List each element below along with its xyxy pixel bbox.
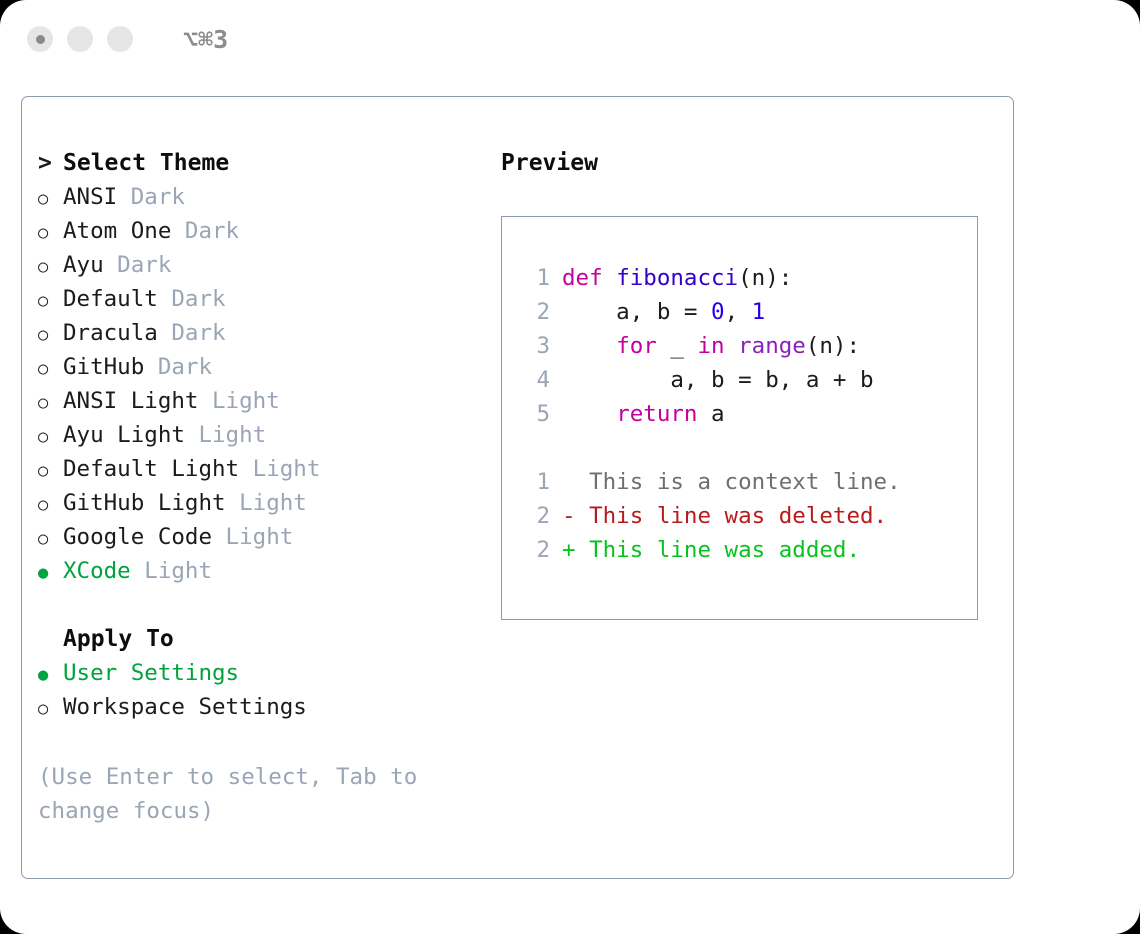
theme-variant-badge: Dark: [144, 354, 212, 380]
theme-option-label: ANSI Light: [63, 388, 198, 414]
theme-option-label: GitHub: [63, 354, 144, 380]
preview-title: Preview: [501, 146, 991, 180]
code-token: (n):: [738, 265, 792, 291]
traffic-light-1-button[interactable]: [27, 26, 53, 52]
theme-picker-header: Select Theme: [38, 146, 468, 180]
theme-option-ansi-light[interactable]: ANSI Light Light: [38, 384, 468, 418]
theme-picker-header-label: Select Theme: [63, 150, 229, 176]
radio-unselected-icon: [38, 214, 63, 250]
theme-picker: Select Theme ANSI DarkAtom One DarkAyu D…: [38, 146, 468, 724]
code-token: (n):: [806, 333, 860, 359]
dialog-panel: Select Theme ANSI DarkAtom One DarkAyu D…: [21, 96, 1014, 879]
theme-option-label: Ayu: [63, 252, 104, 278]
theme-option-xcode[interactable]: XCode Light: [38, 554, 468, 588]
radio-unselected-icon: [38, 690, 63, 726]
radio-selected-icon: [38, 656, 63, 692]
radio-unselected-icon: [38, 350, 63, 386]
traffic-light-active-dot: [36, 35, 45, 44]
code-token: a, b =: [562, 299, 711, 325]
line-number: 3: [524, 329, 550, 363]
apply-to-header: Apply To: [38, 622, 468, 656]
theme-option-label: ANSI: [63, 184, 117, 210]
title-bar: ⌥⌘3: [0, 0, 1140, 78]
theme-variant-badge: Dark: [158, 286, 226, 312]
line-number: 5: [524, 397, 550, 431]
code-token: ,: [725, 299, 752, 325]
line-number: 1: [524, 261, 550, 295]
theme-option-label: Dracula: [63, 320, 158, 346]
line-number: 2: [524, 533, 550, 567]
caret-icon: [38, 146, 63, 180]
apply-to-option-list: User SettingsWorkspace Settings: [38, 656, 468, 724]
theme-option-ansi[interactable]: ANSI Dark: [38, 180, 468, 214]
diff-line-text: This is a context line.: [562, 469, 901, 495]
app-window: ⌥⌘3 Select Theme ANSI DarkAtom One DarkA…: [0, 0, 1140, 934]
theme-variant-badge: Light: [185, 422, 266, 448]
theme-option-google-code[interactable]: Google Code Light: [38, 520, 468, 554]
line-number: 4: [524, 363, 550, 397]
radio-unselected-icon: [38, 282, 63, 318]
code-token: 1: [752, 299, 766, 325]
code-token: 0: [711, 299, 725, 325]
theme-option-atom-one[interactable]: Atom One Dark: [38, 214, 468, 248]
theme-option-ayu[interactable]: Ayu Dark: [38, 248, 468, 282]
keyboard-shortcut-label: ⌥⌘3: [183, 27, 228, 52]
radio-unselected-icon: [38, 520, 63, 556]
code-token: a, b = b, a + b: [562, 367, 874, 393]
theme-variant-badge: Light: [198, 388, 279, 414]
apply-to-option-label: Workspace Settings: [63, 694, 307, 720]
code-diff-spacer: [502, 431, 977, 465]
theme-variant-badge: Light: [226, 490, 307, 516]
diff-sample: 1 This is a context line.2- This line wa…: [502, 465, 977, 567]
code-token: [725, 333, 739, 359]
radio-unselected-icon: [38, 486, 63, 522]
apply-to-header-label: Apply To: [63, 626, 174, 652]
preview-pane: Preview 1def fibonacci(n):2 a, b = 0, 13…: [501, 146, 991, 620]
diff-line-text: + This line was added.: [562, 537, 860, 563]
theme-variant-badge: Light: [131, 558, 212, 584]
theme-variant-badge: Dark: [158, 320, 226, 346]
theme-variant-badge: Dark: [171, 218, 239, 244]
diff-line: 2+ This line was added.: [502, 533, 977, 567]
theme-option-label: Google Code: [63, 524, 212, 550]
code-line: 5 return a: [502, 397, 977, 431]
radio-selected-icon: [38, 554, 63, 590]
theme-option-dracula[interactable]: Dracula Dark: [38, 316, 468, 350]
theme-variant-badge: Dark: [104, 252, 172, 278]
theme-option-label: Default: [63, 286, 158, 312]
keyboard-hint: (Use Enter to select, Tab to change focu…: [38, 760, 458, 828]
diff-line-text: - This line was deleted.: [562, 503, 887, 529]
theme-option-default-light[interactable]: Default Light Light: [38, 452, 468, 486]
theme-option-ayu-light[interactable]: Ayu Light Light: [38, 418, 468, 452]
theme-option-github-light[interactable]: GitHub Light Light: [38, 486, 468, 520]
theme-option-label: Ayu Light: [63, 422, 185, 448]
line-number: 2: [524, 499, 550, 533]
theme-variant-badge: Dark: [117, 184, 185, 210]
traffic-light-2-button[interactable]: [67, 26, 93, 52]
radio-unselected-icon: [38, 452, 63, 488]
diff-line: 1 This is a context line.: [502, 465, 977, 499]
theme-option-label: XCode: [63, 558, 131, 584]
code-line: 1def fibonacci(n):: [502, 261, 977, 295]
theme-option-list: ANSI DarkAtom One DarkAyu DarkDefault Da…: [38, 180, 468, 588]
code-token: [562, 401, 616, 427]
line-number: 2: [524, 295, 550, 329]
theme-option-github[interactable]: GitHub Dark: [38, 350, 468, 384]
preview-box: 1def fibonacci(n):2 a, b = 0, 13 for _ i…: [501, 216, 978, 620]
code-token: for: [616, 333, 657, 359]
code-line: 4 a, b = b, a + b: [502, 363, 977, 397]
theme-option-label: Atom One: [63, 218, 171, 244]
code-token: _: [657, 333, 698, 359]
radio-unselected-icon: [38, 248, 63, 284]
theme-option-label: GitHub Light: [63, 490, 226, 516]
code-token: a: [697, 401, 724, 427]
code-line: 3 for _ in range(n):: [502, 329, 977, 363]
theme-option-default[interactable]: Default Dark: [38, 282, 468, 316]
radio-unselected-icon: [38, 316, 63, 352]
theme-variant-badge: Light: [212, 524, 293, 550]
traffic-light-3-button[interactable]: [107, 26, 133, 52]
code-token: def: [562, 265, 616, 291]
apply-to-option-label: User Settings: [63, 660, 239, 686]
radio-unselected-icon: [38, 384, 63, 420]
section-spacer: [38, 588, 468, 622]
apply-to-option-workspace-settings[interactable]: Workspace Settings: [38, 690, 468, 724]
code-token: fibonacci: [616, 265, 738, 291]
apply-to-option-user-settings[interactable]: User Settings: [38, 656, 468, 690]
diff-line: 2- This line was deleted.: [502, 499, 977, 533]
line-number: 1: [524, 465, 550, 499]
radio-unselected-icon: [38, 180, 63, 216]
radio-unselected-icon: [38, 418, 63, 454]
window-controls: [27, 26, 133, 52]
code-token: range: [738, 333, 806, 359]
code-token: [562, 333, 616, 359]
code-sample: 1def fibonacci(n):2 a, b = 0, 13 for _ i…: [502, 261, 977, 431]
code-token: in: [697, 333, 724, 359]
theme-option-label: Default Light: [63, 456, 239, 482]
theme-variant-badge: Light: [239, 456, 320, 482]
code-token: return: [616, 401, 697, 427]
code-line: 2 a, b = 0, 1: [502, 295, 977, 329]
